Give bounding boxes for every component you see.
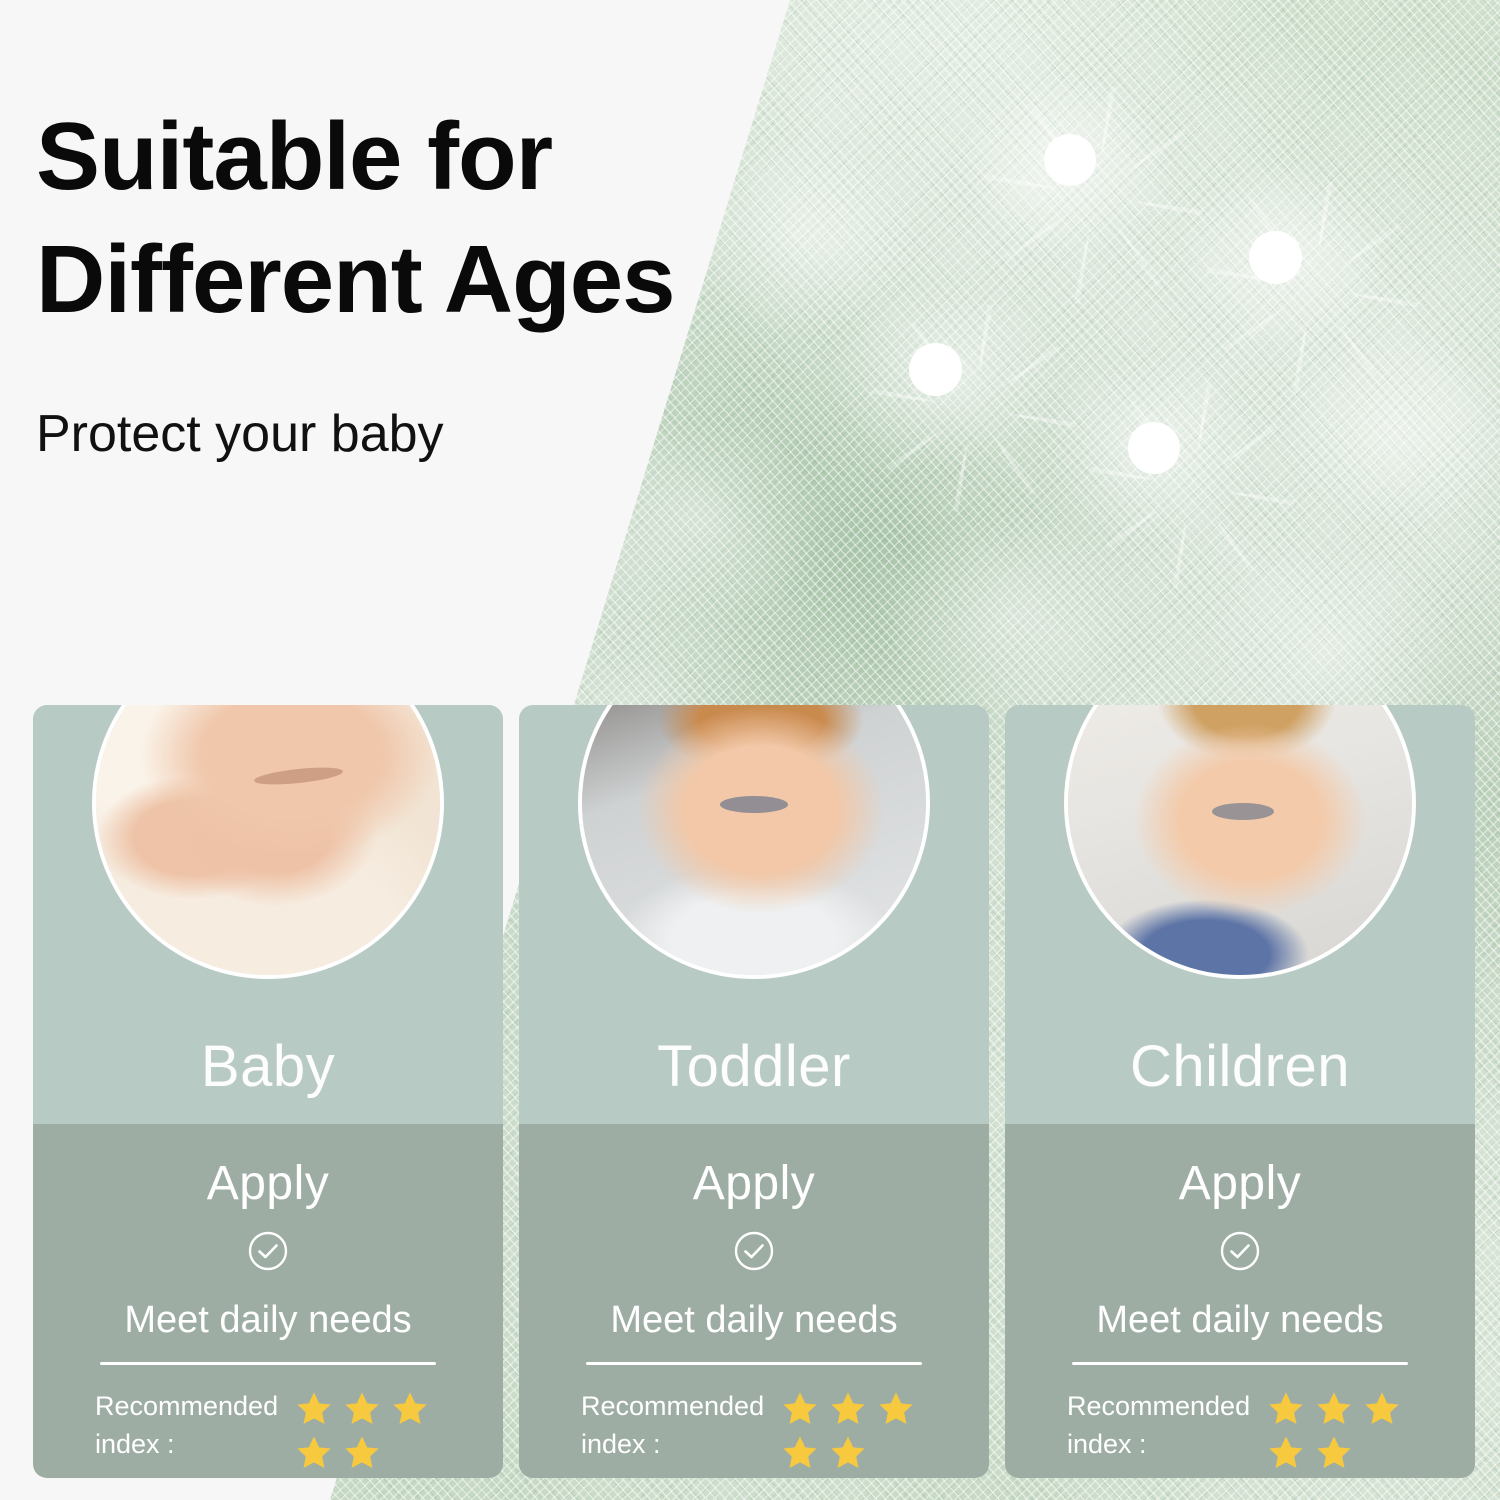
card-top-baby: Baby xyxy=(33,705,503,1124)
check-circle-wrap xyxy=(519,1229,989,1273)
age-label-baby: Baby xyxy=(33,1033,503,1100)
title-line-2: Different Ages xyxy=(36,226,675,333)
star-icon xyxy=(1265,1389,1307,1429)
photo-image xyxy=(582,705,926,975)
needs-label-baby: Meet daily needs xyxy=(33,1299,503,1342)
photo-image xyxy=(1068,705,1412,975)
tuft-rays xyxy=(985,85,1205,305)
tuft-dot-icon xyxy=(1128,422,1180,474)
star-icon xyxy=(341,1433,383,1473)
star-rating-baby xyxy=(293,1387,441,1473)
apply-label-children: Apply xyxy=(1005,1124,1475,1211)
card-divider xyxy=(1072,1362,1408,1365)
age-card-toddler[interactable]: Toddler Apply Meet daily needs Recommend… xyxy=(519,705,989,1478)
card-top-toddler: Toddler xyxy=(519,705,989,1124)
tuft-dot-icon xyxy=(909,343,962,396)
star-icon xyxy=(341,1389,383,1429)
check-circle-icon xyxy=(732,1229,776,1273)
recommended-row-children: Recommended index : xyxy=(1005,1387,1475,1473)
star-icon xyxy=(1313,1389,1355,1429)
apply-label-toddler: Apply xyxy=(519,1124,989,1211)
card-divider xyxy=(586,1362,922,1365)
smiling-toddler-photo xyxy=(578,705,930,979)
sleeping-newborn-photo xyxy=(92,705,444,979)
recommended-index-label: Recommended index : xyxy=(581,1387,764,1464)
subtitle: Protect your baby xyxy=(36,404,856,464)
tuft-rays xyxy=(1088,382,1296,590)
star-icon xyxy=(827,1389,869,1429)
star-icon xyxy=(293,1389,335,1429)
recommended-row-baby: Recommended index : xyxy=(33,1387,503,1473)
star-icon xyxy=(1265,1433,1307,1473)
card-bottom-baby: Apply Meet daily needs Recommended index… xyxy=(33,1124,503,1478)
check-circle-wrap xyxy=(1005,1229,1475,1273)
star-icon xyxy=(1313,1433,1355,1473)
age-card-baby[interactable]: Baby Apply Meet daily needs Recommended … xyxy=(33,705,503,1478)
needs-label-toddler: Meet daily needs xyxy=(519,1299,989,1342)
age-card-children[interactable]: Children Apply Meet daily needs Recommen… xyxy=(1005,705,1475,1478)
headline-block: Suitable forDifferent Ages Protect your … xyxy=(36,96,856,464)
star-icon xyxy=(827,1433,869,1473)
age-label-children: Children xyxy=(1005,1033,1475,1100)
recommended-index-label: Recommended index : xyxy=(95,1387,278,1464)
tuft-dot-icon xyxy=(1249,231,1302,284)
star-icon xyxy=(389,1389,431,1429)
age-label-toddler: Toddler xyxy=(519,1033,989,1100)
star-icon xyxy=(1361,1389,1403,1429)
young-girl-photo xyxy=(1064,705,1416,979)
star-icon xyxy=(779,1389,821,1429)
card-divider xyxy=(100,1362,436,1365)
check-circle-icon xyxy=(1218,1229,1262,1273)
apply-label-baby: Apply xyxy=(33,1124,503,1211)
infographic-canvas: Suitable forDifferent Ages Protect your … xyxy=(0,0,1500,1500)
recommended-row-toddler: Recommended index : xyxy=(519,1387,989,1473)
photo-image xyxy=(96,705,440,975)
star-rating-children xyxy=(1265,1387,1413,1473)
title-line-1: Suitable for xyxy=(36,103,552,210)
tuft-dot-icon xyxy=(1044,134,1096,186)
card-bottom-children: Apply Meet daily needs Recommended index… xyxy=(1005,1124,1475,1478)
card-top-children: Children xyxy=(1005,705,1475,1124)
star-icon xyxy=(779,1433,821,1473)
recommended-index-label: Recommended index : xyxy=(1067,1387,1250,1464)
needs-label-children: Meet daily needs xyxy=(1005,1299,1475,1342)
tuft-rays xyxy=(1205,180,1420,395)
star-rating-toddler xyxy=(779,1387,927,1473)
star-icon xyxy=(875,1389,917,1429)
page-title: Suitable forDifferent Ages xyxy=(36,96,856,342)
card-bottom-toddler: Apply Meet daily needs Recommended index… xyxy=(519,1124,989,1478)
star-icon xyxy=(293,1433,335,1473)
check-circle-wrap xyxy=(33,1229,503,1273)
check-circle-icon xyxy=(246,1229,290,1273)
tuft-rays xyxy=(868,303,1078,513)
